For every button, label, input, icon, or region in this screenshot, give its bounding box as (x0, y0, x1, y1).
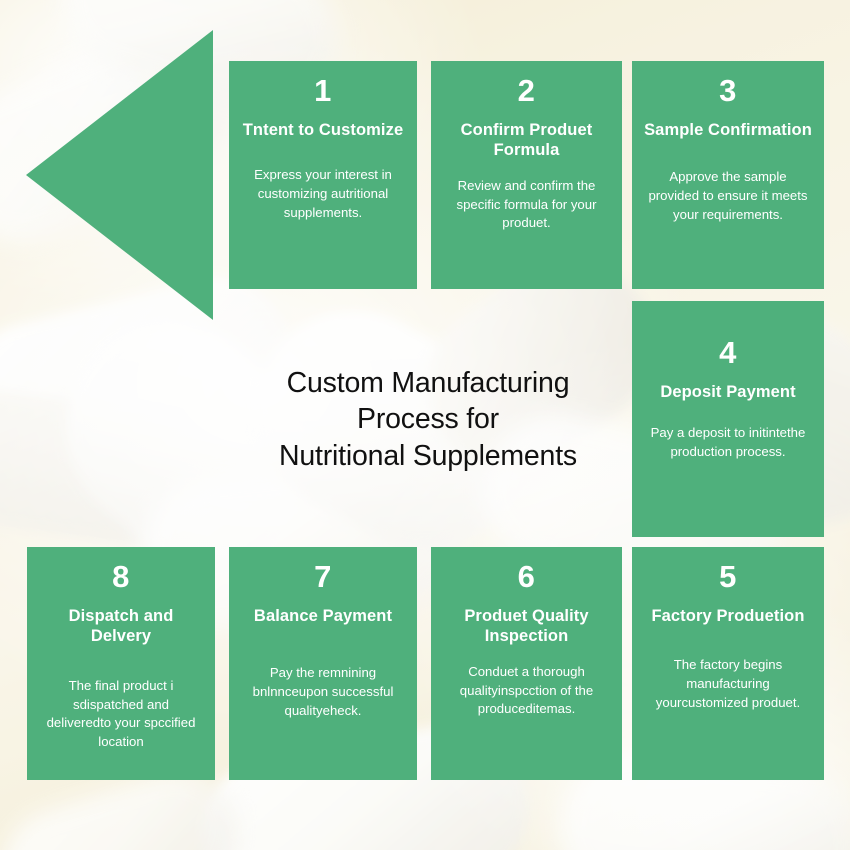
step-title: Confirm Produet Formula (443, 120, 610, 161)
step-number: 8 (112, 561, 130, 594)
step-card-7[interactable]: 7 Balance Payment Pay the remnining bnln… (229, 547, 417, 780)
step-number: 1 (314, 75, 332, 108)
step-title: Factory Produetion (651, 606, 804, 627)
infographic-poster: 1 Tntent to Customize Express your inter… (0, 0, 850, 850)
page-title-line-1: Custom Manufacturing (287, 365, 570, 401)
step-title: Balance Payment (254, 606, 392, 627)
page-title-line-2: Process for (357, 401, 499, 437)
step-card-3[interactable]: 3 Sample Confirmation Approve the sample… (632, 61, 824, 289)
step-title: Deposit Payment (660, 382, 795, 403)
step-number: 7 (314, 561, 332, 594)
step-card-2[interactable]: 2 Confirm Produet Formula Review and con… (431, 61, 622, 289)
step-description: Pay a deposit to initintethe production … (644, 424, 812, 461)
step-card-8[interactable]: 8 Dispatch and Delvery The final product… (27, 547, 215, 780)
step-title: Produet Quality Inspection (443, 606, 610, 647)
step-number: 2 (518, 75, 536, 108)
step-title: Tntent to Customize (243, 120, 403, 141)
step-card-5[interactable]: 5 Factory Produetion The factory begins … (632, 547, 824, 780)
step-title: Dispatch and Delvery (39, 606, 203, 647)
page-title: Custom Manufacturing Process for Nutriti… (232, 352, 624, 487)
step-title: Sample Confirmation (644, 120, 812, 141)
step-description: Pay the remnining bnlnnceupon successful… (241, 664, 405, 720)
step-description: Approve the sample provided to ensure it… (644, 168, 812, 224)
step-card-6[interactable]: 6 Produet Quality Inspection Conduet a t… (431, 547, 622, 780)
step-number: 5 (719, 561, 737, 594)
step-card-1[interactable]: 1 Tntent to Customize Express your inter… (229, 61, 417, 289)
step-number: 6 (518, 561, 536, 594)
step-description: The factory begins manufacturing yourcus… (644, 656, 812, 712)
step-number: 4 (719, 337, 737, 370)
left-arrow-triangle-icon (26, 30, 216, 320)
step-card-4[interactable]: 4 Deposit Payment Pay a deposit to initi… (632, 301, 824, 537)
page-title-line-3: Nutritional Supplements (279, 438, 577, 474)
step-number: 3 (719, 75, 737, 108)
step-description: Review and confirm the specific formula … (443, 177, 610, 233)
step-description: Express your interest in customizing aut… (241, 166, 405, 222)
step-description: Conduet a thorough qualityinspcction of … (443, 663, 610, 719)
step-description: The final product i sdispatched and deli… (39, 677, 203, 752)
